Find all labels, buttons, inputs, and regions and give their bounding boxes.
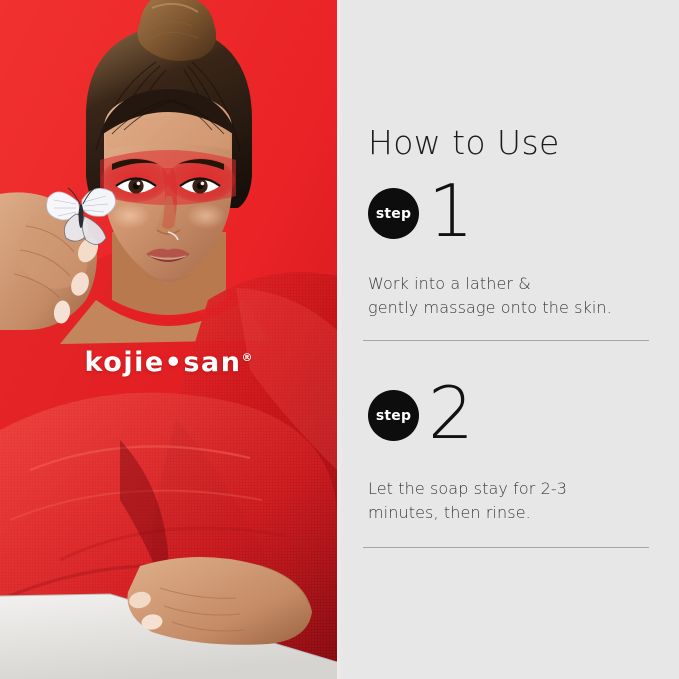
how-to-use-infographic: kojie•san® How to Use step 1 Work into a…	[0, 0, 679, 679]
step-2-badge: step	[368, 390, 419, 441]
instructions-panel: How to Use step 1 Work into a lather & g…	[337, 0, 679, 679]
step-1-number: 1	[428, 175, 474, 247]
brand-name-part2: san	[183, 347, 241, 378]
step-divider-1	[363, 340, 649, 341]
brand-logo: kojie•san®	[0, 349, 337, 376]
step-2-header: step 2	[337, 390, 679, 452]
step-2-description: Let the soap stay for 2-3 minutes, then …	[368, 477, 567, 525]
brand-name-part1: kojie	[85, 347, 165, 378]
step-item-1: step 1 Work into a lather & gently massa…	[337, 188, 679, 250]
step-divider-2	[363, 547, 649, 548]
product-hero-photo: kojie•san®	[0, 0, 337, 679]
brand-separator-dot: •	[165, 347, 184, 378]
step-1-description: Work into a lather & gently massage onto…	[368, 272, 612, 320]
step-2-number: 2	[428, 377, 474, 449]
step-1-header: step 1	[337, 188, 679, 250]
model-photo-illustration	[0, 0, 337, 679]
registered-trademark-icon: ®	[241, 351, 252, 364]
step-1-badge: step	[368, 188, 419, 239]
step-item-2: step 2 Let the soap stay for 2-3 minutes…	[337, 390, 679, 452]
page-title: How to Use	[368, 126, 560, 159]
panel-seam-divider	[337, 0, 342, 679]
